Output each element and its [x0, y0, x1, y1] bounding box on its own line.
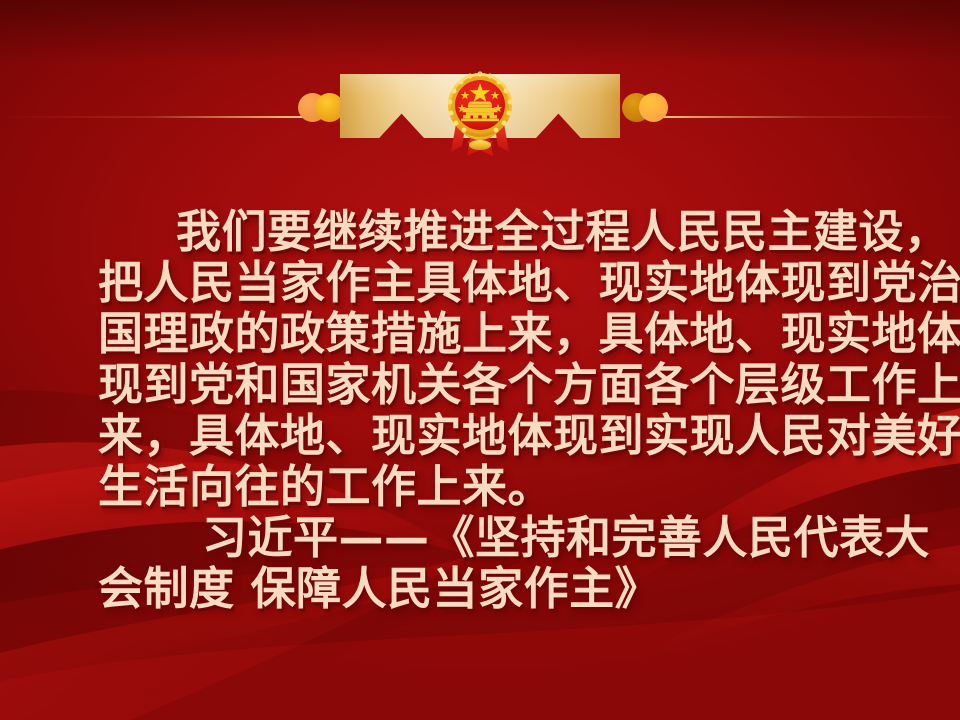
circle-dot-icon: [639, 93, 668, 122]
circle-dot-icon: [622, 93, 651, 122]
quote-line: 把人民当家作主具体地、现实地体现到党治: [98, 257, 862, 308]
quote-line: 国理政的政策措施上来，具体地、现实地体: [98, 308, 862, 359]
attribution-line: 习近平——《坚持和完善人民代表大: [98, 512, 862, 563]
gold-hairline-left: [0, 116, 330, 118]
poster-root: 我们要继续推进全过程人民民主建设， 把人民当家作主具体地、现实地体现到党治 国理…: [0, 0, 960, 720]
circle-dot-icon: [298, 93, 327, 122]
attribution-text: 习近平——《坚持和完善人民代表大 会制度 保障人民当家作主》: [98, 512, 862, 614]
gold-hairline-right: [630, 116, 960, 118]
quote-line: 我们要继续推进全过程人民民主建设，: [98, 206, 862, 257]
quotation-text: 我们要继续推进全过程人民民主建设， 把人民当家作主具体地、现实地体现到党治 国理…: [98, 206, 862, 512]
quote-line: 生活向往的工作上来。: [98, 461, 862, 512]
circle-dot-icon: [315, 93, 344, 122]
attribution-line: 会制度 保障人民当家作主》: [98, 563, 862, 614]
national-emblem-icon: [437, 60, 523, 158]
quote-line: 现到党和国家机关各个方面各个层级工作上: [98, 359, 862, 410]
quote-line: 来，具体地、现实地体现到实现人民对美好: [98, 410, 862, 461]
